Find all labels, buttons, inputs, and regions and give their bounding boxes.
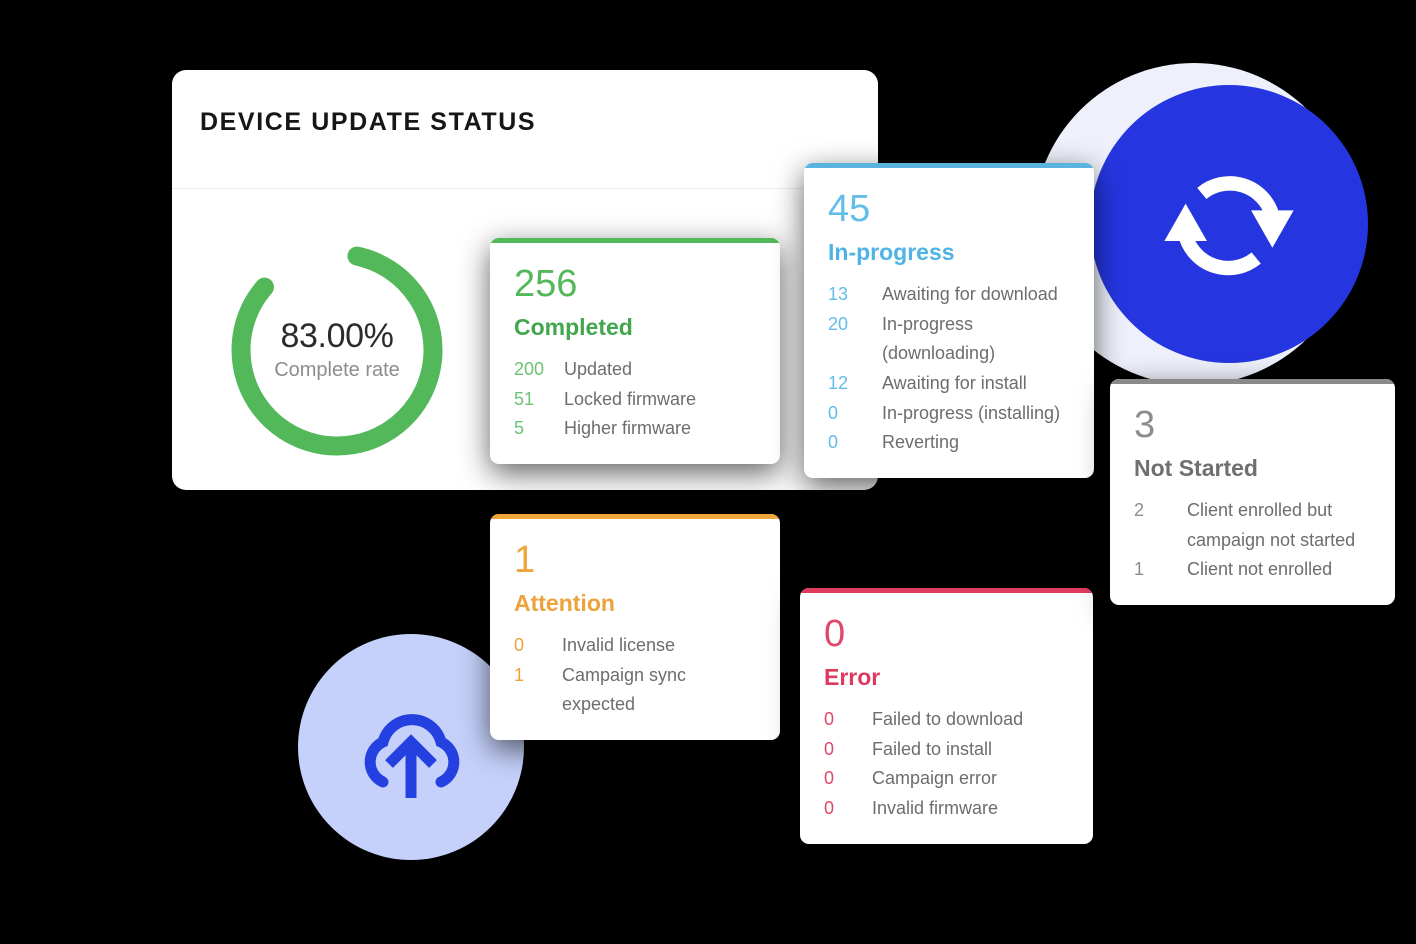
gauge-value: 83.00% xyxy=(281,318,394,355)
row-label: Invalid license xyxy=(562,631,675,661)
row-label: Locked firmware xyxy=(564,385,696,415)
list-item: 1 Client not enrolled xyxy=(1134,555,1371,585)
row-count: 12 xyxy=(828,369,882,399)
card-title: Attention xyxy=(514,590,756,617)
row-count: 200 xyxy=(514,355,564,385)
list-item: 0 Invalid license xyxy=(514,631,756,661)
row-label: Invalid firmware xyxy=(872,794,998,824)
row-label: Client not enrolled xyxy=(1187,555,1332,585)
list-item: 51 Locked firmware xyxy=(514,385,756,415)
row-count: 0 xyxy=(824,764,872,794)
row-label: Campaign error xyxy=(872,764,997,794)
row-count: 0 xyxy=(824,794,872,824)
row-count: 0 xyxy=(828,399,882,429)
row-label: In-progress (downloading) xyxy=(882,310,1070,369)
list-item: 0 Invalid firmware xyxy=(824,794,1069,824)
row-label: Updated xyxy=(564,355,632,385)
row-count: 1 xyxy=(514,661,562,691)
panel-divider xyxy=(172,188,878,189)
list-item: 1 Campaign sync expected xyxy=(514,661,756,720)
card-detail-rows: 0 Failed to download 0 Failed to install… xyxy=(824,705,1069,824)
row-label: Awaiting for download xyxy=(882,280,1058,310)
card-count: 0 xyxy=(824,615,1069,653)
row-label: Higher firmware xyxy=(564,414,691,444)
list-item: 20 In-progress (downloading) xyxy=(828,310,1070,369)
sync-refresh-icon xyxy=(1090,85,1368,363)
status-card-attention[interactable]: 1 Attention 0 Invalid license 1 Campaign… xyxy=(490,514,780,740)
list-item: 5 Higher firmware xyxy=(514,414,756,444)
status-card-inprogress[interactable]: 45 In-progress 13 Awaiting for download … xyxy=(804,163,1094,478)
row-count: 20 xyxy=(828,310,882,340)
status-card-error[interactable]: 0 Error 0 Failed to download 0 Failed to… xyxy=(800,588,1093,844)
row-label: In-progress (installing) xyxy=(882,399,1060,429)
row-count: 0 xyxy=(514,631,562,661)
complete-rate-gauge: 83.00% Complete rate xyxy=(225,238,449,462)
list-item: 0 Campaign error xyxy=(824,764,1069,794)
list-item: 0 Failed to download xyxy=(824,705,1069,735)
row-count: 0 xyxy=(824,705,872,735)
row-label: Client enrolled but campaign not started xyxy=(1187,496,1371,555)
row-label: Failed to download xyxy=(872,705,1023,735)
status-card-not-started[interactable]: 3 Not Started 2 Client enrolled but camp… xyxy=(1110,379,1395,605)
list-item: 0 Reverting xyxy=(828,428,1070,458)
gauge-center-text: 83.00% Complete rate xyxy=(225,238,449,462)
card-title: Completed xyxy=(514,314,756,341)
list-item: 0 Failed to install xyxy=(824,735,1069,765)
card-count: 1 xyxy=(514,541,756,579)
list-item: 0 In-progress (installing) xyxy=(828,399,1070,429)
row-label: Campaign sync expected xyxy=(562,661,756,720)
row-count: 0 xyxy=(824,735,872,765)
list-item: 200 Updated xyxy=(514,355,756,385)
card-title: Not Started xyxy=(1134,455,1371,482)
status-card-completed[interactable]: 256 Completed 200 Updated 51 Locked firm… xyxy=(490,238,780,464)
gauge-label: Complete rate xyxy=(274,359,400,382)
row-label: Awaiting for install xyxy=(882,369,1027,399)
card-detail-rows: 2 Client enrolled but campaign not start… xyxy=(1134,496,1371,585)
dashboard-stage: DEVICE UPDATE STATUS 83.00% Complete rat… xyxy=(0,0,1416,944)
row-count: 5 xyxy=(514,414,564,444)
page-title: DEVICE UPDATE STATUS xyxy=(200,108,536,137)
card-title: Error xyxy=(824,664,1069,691)
list-item: 2 Client enrolled but campaign not start… xyxy=(1134,496,1371,555)
list-item: 13 Awaiting for download xyxy=(828,280,1070,310)
row-label: Reverting xyxy=(882,428,959,458)
row-count: 1 xyxy=(1134,555,1187,585)
list-item: 12 Awaiting for install xyxy=(828,369,1070,399)
card-detail-rows: 13 Awaiting for download 20 In-progress … xyxy=(828,280,1070,458)
card-count: 3 xyxy=(1134,406,1371,444)
card-detail-rows: 0 Invalid license 1 Campaign sync expect… xyxy=(514,631,756,720)
card-detail-rows: 200 Updated 51 Locked firmware 5 Higher … xyxy=(514,355,756,444)
row-label: Failed to install xyxy=(872,735,992,765)
card-count: 45 xyxy=(828,190,1070,228)
row-count: 2 xyxy=(1134,496,1187,526)
row-count: 13 xyxy=(828,280,882,310)
card-title: In-progress xyxy=(828,239,1070,266)
card-count: 256 xyxy=(514,265,756,303)
row-count: 51 xyxy=(514,385,564,415)
row-count: 0 xyxy=(828,428,882,458)
